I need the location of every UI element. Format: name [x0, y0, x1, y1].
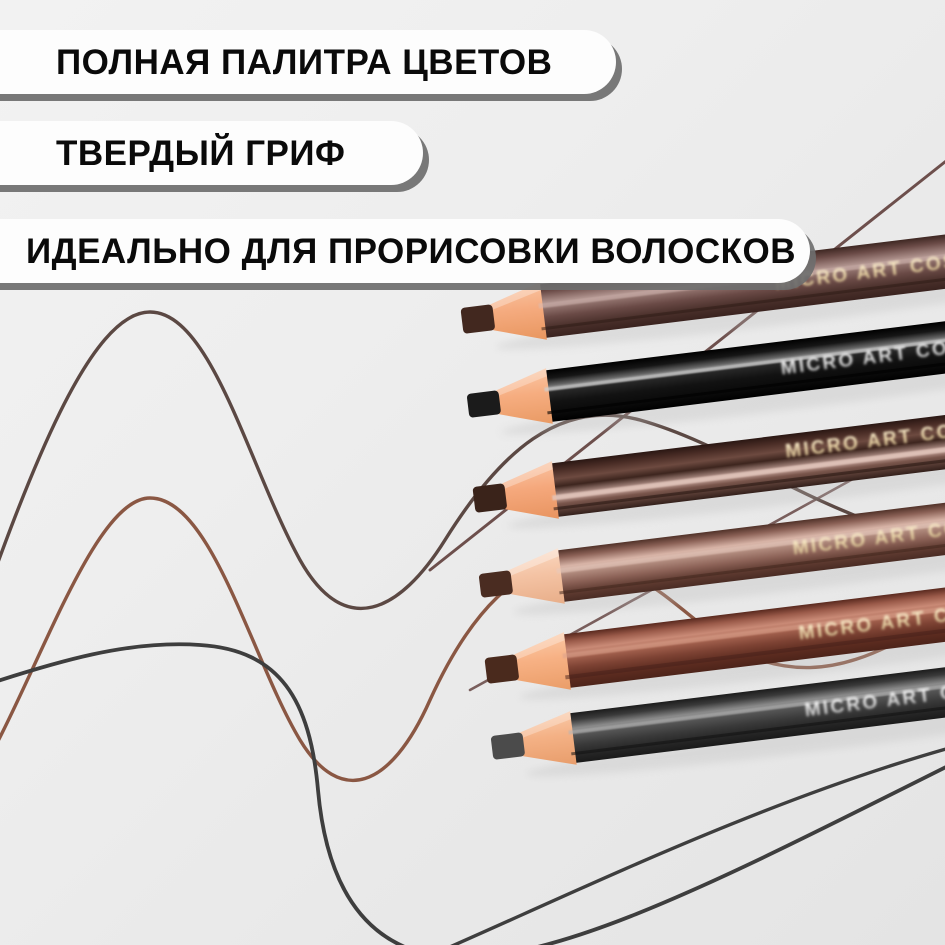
feature-banner-hardness[interactable]: ТВЕРДЫЙ ГРИФ — [0, 121, 423, 185]
feature-banner-palette[interactable]: ПОЛНАЯ ПАЛИТРА ЦВЕТОВ — [0, 30, 616, 94]
pencil-2-wood-cone — [494, 368, 552, 430]
pencil-5-lead-tip — [484, 654, 519, 684]
pencil-1-wood-cone — [488, 282, 547, 346]
pencil-2-lead-tip — [467, 390, 502, 418]
feature-banner-palette-label: ПОЛНАЯ ПАЛИТРА ЦВЕТОВ — [56, 45, 552, 80]
poster-canvas: MICRO ART COSMETICS MICRO ART COSMETICS … — [0, 0, 945, 945]
feature-banner-hardness-label: ТВЕРДЫЙ ГРИФ — [56, 136, 345, 171]
pencil-6-lead-tip — [491, 732, 526, 760]
pencil-4-lead-tip — [479, 570, 514, 598]
pencil-5-wood-cone — [512, 632, 571, 696]
pencil-1-lead-tip — [460, 304, 495, 334]
pencil-3-wood-cone — [500, 461, 559, 525]
feature-banner-hairstrokes-label: ИДЕАЛЬНО ДЛЯ ПРОРИСОВКИ ВОЛОСКОВ — [26, 234, 796, 269]
pencil-3-lead-tip — [472, 483, 507, 513]
feature-banner-hairstrokes[interactable]: ИДЕАЛЬНО ДЛЯ ПРОРИСОВКИ ВОЛОСКОВ — [0, 219, 810, 283]
pencil-4-wood-cone — [506, 548, 564, 610]
